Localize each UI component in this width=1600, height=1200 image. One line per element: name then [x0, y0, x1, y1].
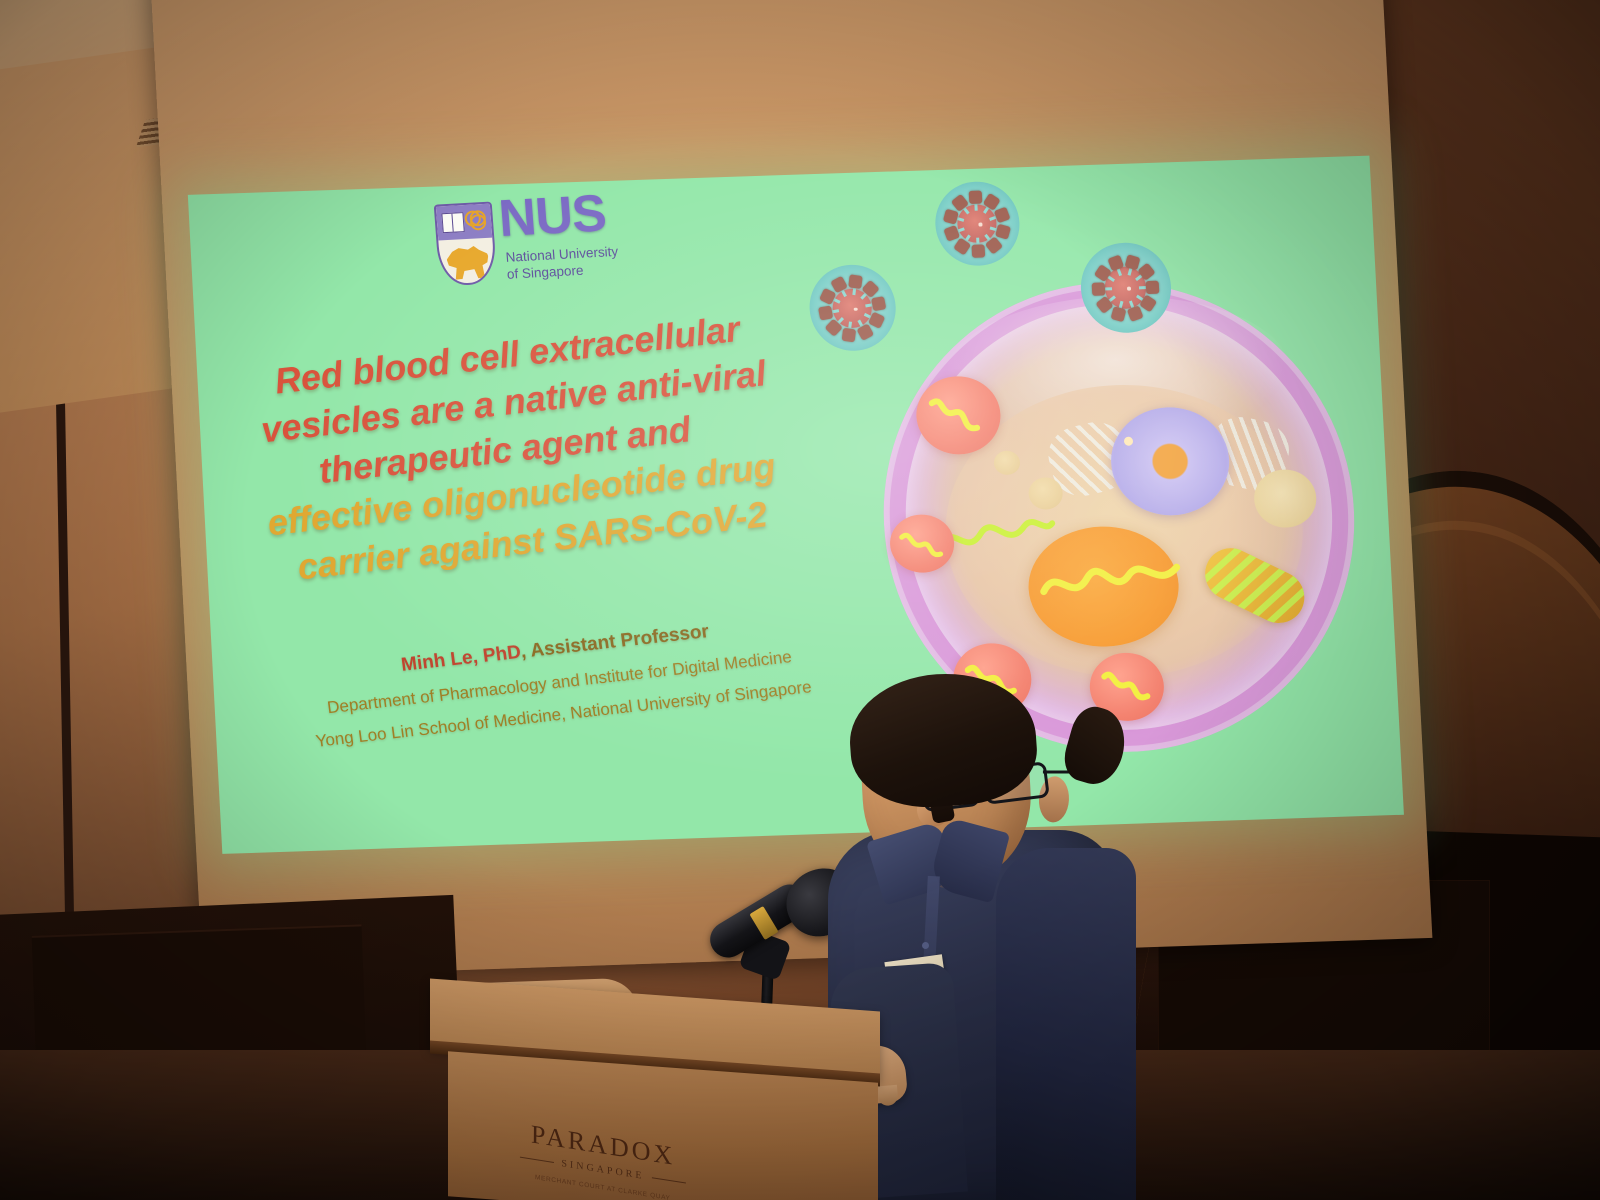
- vesicle-1-cargo: [925, 390, 992, 444]
- author-name-bold: Minh Le, PhD: [400, 642, 522, 676]
- nus-subtitle: National University of Singapore: [505, 243, 620, 284]
- book-icon: [441, 212, 464, 233]
- vesicle-small-2: [993, 450, 1020, 475]
- nus-shield-icon: [434, 202, 498, 287]
- vesicle-small-1: [1027, 477, 1063, 510]
- coronavirus-particle-1: [933, 181, 1021, 268]
- shirt-button-1: [922, 942, 929, 949]
- coronavirus-particle-2: [1078, 242, 1173, 335]
- slide-title: Red blood cell extracellular vesicles ar…: [246, 298, 833, 594]
- vesicle-2-cargo: [897, 525, 947, 565]
- podium-brand: PARADOX SINGAPORE MERCHANT COURT AT CLAR…: [498, 1114, 709, 1200]
- nus-wordmark: NUS: [497, 187, 607, 245]
- presentation-photo: NUS National University of Singapore Red…: [0, 0, 1600, 1200]
- rings-icon: [464, 210, 486, 231]
- podium: PARADOX SINGAPORE MERCHANT COURT AT CLAR…: [420, 995, 890, 1200]
- projection-screen: NUS National University of Singapore Red…: [150, 0, 1432, 979]
- presentation-slide: NUS National University of Singapore Red…: [188, 156, 1404, 854]
- slide-author-block: Minh Le, PhD, Assistant Professor Depart…: [246, 604, 874, 770]
- hair: [846, 668, 1041, 813]
- golgi-rna-squiggle: [1036, 543, 1190, 618]
- lion-icon: [446, 244, 490, 280]
- speaker-right-shoulder: [996, 848, 1136, 1200]
- nus-logo: NUS National University of Singapore: [433, 186, 631, 306]
- coronavirus-particle-3: [807, 264, 897, 353]
- author-title: , Assistant Professor: [519, 621, 710, 663]
